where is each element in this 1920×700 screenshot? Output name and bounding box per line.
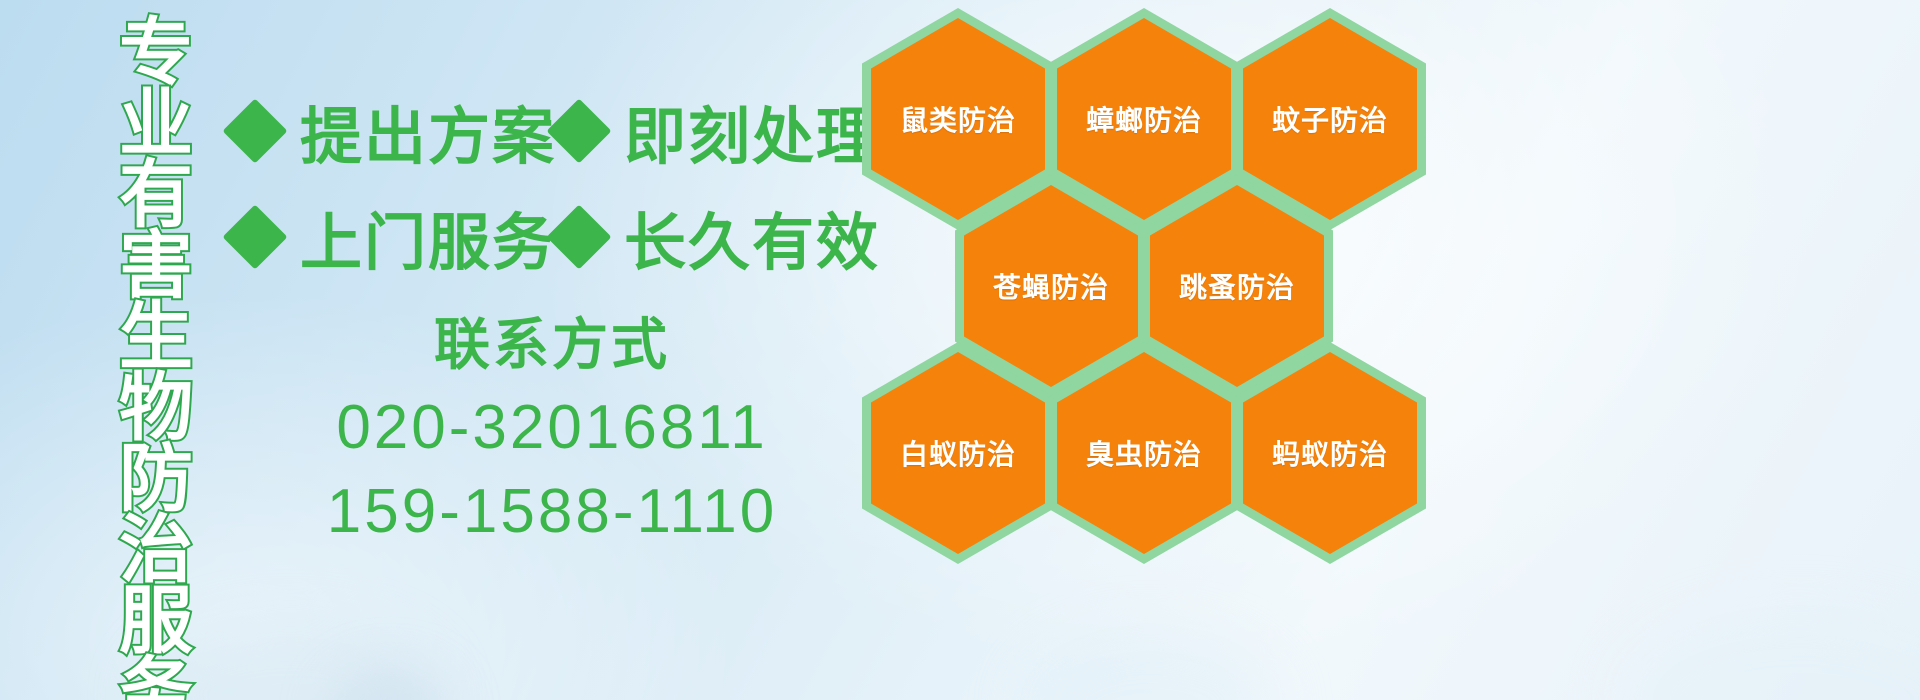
vertical-title-char: 专	[119, 18, 193, 89]
diamond-bullet-icon	[222, 98, 287, 163]
vertical-title-char: 生	[119, 302, 193, 373]
vertical-title-char: 业	[119, 89, 193, 160]
service-label: 臭虫防治	[1086, 433, 1202, 473]
diamond-bullet-icon	[546, 204, 611, 269]
service-hexagon-grid: 鼠类防治 蟑螂防治 蚊子防治 苍蝇防治 跳蚤防治 白蚁防治 臭虫防治 蚂蚁	[848, 0, 1488, 700]
feature-row: 提出方案 即刻处理	[232, 78, 872, 184]
contact-mobile[interactable]: 159-1588-1110	[232, 477, 872, 546]
feature-label: 提出方案	[300, 86, 556, 176]
diamond-bullet-icon	[222, 204, 287, 269]
feature-label: 即刻处理	[624, 86, 880, 176]
vertical-title-char: 害	[119, 231, 193, 302]
service-label: 白蚁防治	[900, 433, 1016, 473]
contact-title: 联系方式	[232, 312, 872, 379]
vertical-title-char: 务	[119, 657, 193, 700]
vertical-title-char: 物	[119, 373, 193, 444]
vertical-title-char: 有	[119, 160, 193, 231]
pest-control-banner: 专 业 有 害 生 物 防 治 服 务 提出方案 即刻处理 上门服务	[0, 0, 1920, 700]
vertical-title-char: 服	[119, 586, 193, 657]
vertical-title-char: 治	[119, 515, 193, 586]
service-label: 鼠类防治	[900, 99, 1016, 139]
contact-block: 联系方式 020-32016811 159-1588-1110	[232, 312, 872, 546]
feature-item-propose-plan: 提出方案	[232, 86, 556, 176]
contact-landline[interactable]: 020-32016811	[232, 393, 872, 462]
feature-item-long-lasting-effect: 长久有效	[556, 192, 880, 282]
feature-item-door-to-door-service: 上门服务	[232, 192, 556, 282]
service-label: 跳蚤防治	[1179, 266, 1295, 306]
feature-label: 长久有效	[624, 192, 880, 282]
vertical-title: 专 业 有 害 生 物 防 治 服 务	[108, 18, 204, 678]
feature-item-immediate-handling: 即刻处理	[556, 86, 880, 176]
service-label: 苍蝇防治	[993, 266, 1109, 306]
feature-label: 上门服务	[300, 192, 556, 282]
background-blur-blob	[330, 670, 450, 700]
feature-row: 上门服务 长久有效	[232, 184, 872, 290]
diamond-bullet-icon	[546, 98, 611, 163]
service-label: 蚊子防治	[1272, 99, 1388, 139]
background-blur-blob	[1620, 610, 1920, 700]
vertical-title-char: 防	[119, 444, 193, 515]
feature-list: 提出方案 即刻处理 上门服务 长久有效	[232, 78, 872, 290]
service-label: 蚂蚁防治	[1272, 433, 1388, 473]
service-label: 蟑螂防治	[1086, 99, 1202, 139]
